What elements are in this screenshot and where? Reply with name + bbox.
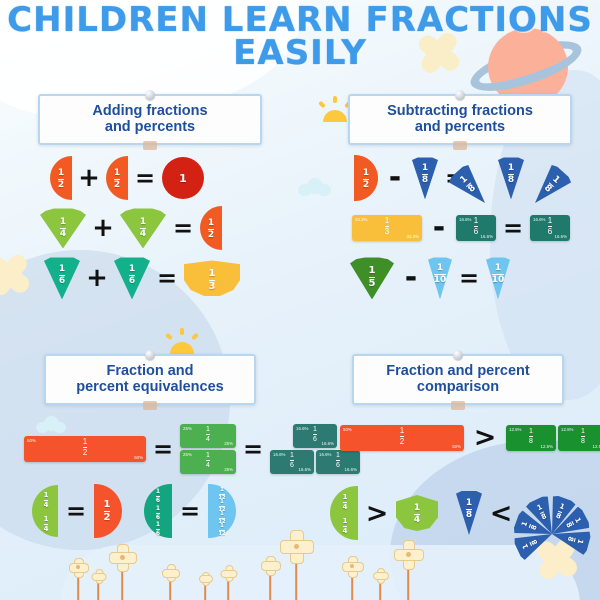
- fraction-tenth-subtrahend: 110: [428, 257, 452, 299]
- panel-comparison-title-line1: Fraction and percent: [358, 363, 558, 379]
- fraction-eighth-compare: 18: [456, 491, 482, 535]
- panel-subtracting-title-line1: Subtracting fractions: [354, 103, 566, 119]
- panel-subtracting: Subtracting fractions and percents 12 - …: [348, 94, 572, 303]
- fraction-tenth-result: 110: [486, 257, 510, 299]
- bar-eighth-pair: 12.5% 12.5% 18 12.5% 12.5% 18: [506, 425, 600, 451]
- poster-title: CHILDREN LEARN FRACTIONS EASILY: [0, 4, 600, 71]
- row-sub-2: 33.3% 33.3% 13 - 16.6% 16.6% 16 = 16.6% …: [348, 203, 572, 253]
- panel-subtracting-rows: 12 - 18 = 18 18: [348, 153, 572, 303]
- bar-quarter-stack: 25% 25% 14 25% 25% 14: [180, 424, 236, 474]
- row-cmp-2: 14 14 > 14 18 < 18 18 18 18 18: [330, 484, 600, 542]
- operator-plus: +: [90, 215, 116, 241]
- tape-icon: [143, 141, 157, 150]
- operator-minus: -: [426, 213, 452, 243]
- fraction-half-two-quarters: 14 14: [32, 485, 58, 537]
- fraction-eighth-fan-compare: 18 18 18 18 18 18: [520, 484, 600, 542]
- panel-subtracting-header: Subtracting fractions and percents: [348, 94, 572, 145]
- bar-half-compare: 50% 50% 12: [340, 425, 464, 451]
- pin-icon: [145, 350, 155, 360]
- wedge-2: 18: [498, 157, 524, 199]
- operator-minus: -: [398, 263, 424, 293]
- cloud-icon-left: [298, 178, 332, 198]
- panel-comparison-title-line2: comparison: [358, 379, 558, 395]
- bar-eighth-2: 12.5% 12.5% 18: [558, 425, 600, 451]
- pin-icon: [453, 350, 463, 360]
- row-eqv-2: 14 14 = 12 16 16 16 = 112 112 112 112: [32, 484, 236, 538]
- panel-adding-rows: 12 + 12 = 1 14: [38, 153, 262, 303]
- bar-quarter-2: 25% 25% 14: [180, 450, 236, 474]
- operator-equals: =: [132, 166, 158, 190]
- panel-adding: Adding fractions and percents 12 + 12 =: [38, 94, 262, 303]
- sun-icon-middle: [163, 328, 201, 354]
- comparator-greater-than: >: [364, 500, 390, 527]
- bar-half-equiv: 50% 50% 12: [24, 436, 146, 462]
- operator-minus: -: [382, 163, 408, 193]
- bar-third-minuend: 33.3% 33.3% 13: [352, 215, 422, 241]
- operator-equals: =: [177, 499, 203, 523]
- tape-icon: [451, 401, 465, 410]
- fraction-eighth-fan-result: 18 18 18: [472, 155, 550, 201]
- fraction-half-green-compare: 14 14: [330, 486, 358, 540]
- comparator-greater-than: >: [472, 424, 498, 451]
- panel-adding-title-line1: Adding fractions: [44, 103, 256, 119]
- operator-equals: =: [63, 499, 89, 523]
- fraction-quarter-1: 14: [40, 208, 86, 248]
- panel-equivalences-title-line2: percent equivalences: [50, 379, 250, 395]
- bar-quarter-1: 25% 25% 14: [180, 424, 236, 448]
- fraction-half-twelfths: 112 112 112 112: [208, 484, 236, 538]
- fraction-sixth-2: 16: [114, 257, 150, 299]
- row-add-3: 16 + 16 = 13: [38, 253, 262, 303]
- tape-icon: [143, 401, 157, 410]
- operator-equals: =: [150, 437, 176, 461]
- fraction-half-sixths: 16 16 16: [144, 484, 172, 538]
- bar-sixth-top: 16.6% 16.6% 16: [293, 424, 337, 448]
- comparator-less-than: <: [488, 500, 514, 527]
- fraction-half-result: 12: [200, 206, 222, 250]
- panel-equivalences-title-line1: Fraction and: [50, 363, 250, 379]
- row-cmp-1: 50% 50% 12 > 12.5% 12.5% 18 12.5% 12.5% …: [340, 424, 600, 451]
- panel-comparison: Fraction and percent comparison: [352, 354, 564, 405]
- operator-equals: =: [170, 216, 196, 240]
- tape-icon: [453, 141, 467, 150]
- bar-sixth-bottom-right: 16.6% 16.6% 16: [316, 450, 360, 474]
- operator-plus: +: [84, 265, 110, 291]
- panel-equivalences: Fraction and percent equivalences: [44, 354, 256, 405]
- panel-adding-title-line2: and percents: [44, 119, 256, 135]
- panel-subtracting-title-line2: and percents: [354, 119, 566, 135]
- fraction-whole-circle: 1: [162, 157, 204, 199]
- operator-equals: =: [500, 216, 526, 240]
- fraction-sixth-1: 16: [44, 257, 80, 299]
- flower-decoration-strip: [0, 540, 600, 600]
- bar-sixth-bottom-left: 16.6% 16.6% 16: [270, 450, 314, 474]
- fraction-quarter-2: 14: [120, 208, 166, 248]
- row-sub-1: 12 - 18 = 18 18: [348, 153, 572, 203]
- operator-equals: =: [456, 266, 482, 290]
- operator-equals: =: [154, 266, 180, 290]
- poster-canvas: CHILDREN LEARN FRACTIONS EASILY Adding f…: [0, 0, 600, 600]
- panel-equivalences-header: Fraction and percent equivalences: [44, 354, 256, 405]
- row-add-1: 12 + 12 = 1: [38, 153, 262, 203]
- pin-icon: [455, 90, 465, 100]
- fraction-half-2: 12: [106, 156, 128, 200]
- row-eqv-1: 50% 50% 12 = 25% 25% 14 25% 25% 14 = 16.…: [24, 424, 360, 474]
- title-line-2: EASILY: [0, 37, 600, 70]
- bar-sixth-result: 16.6% 16.6% 16: [530, 215, 570, 241]
- row-sub-3: 15 - 110 = 110: [348, 253, 572, 303]
- panel-adding-header: Adding fractions and percents: [38, 94, 262, 145]
- row-add-2: 14 + 14 = 12: [38, 203, 262, 253]
- fraction-fifth-minuend: 15: [350, 257, 394, 299]
- fraction-quarter-compare: 14: [396, 495, 438, 531]
- panel-comparison-header: Fraction and percent comparison: [352, 354, 564, 405]
- operator-plus: +: [76, 165, 102, 191]
- fraction-half-orange: 12: [94, 484, 122, 538]
- operator-equals: =: [240, 437, 266, 461]
- bar-eighth-1: 12.5% 12.5% 18: [506, 425, 556, 451]
- fraction-eighth-subtrahend: 18: [412, 157, 438, 199]
- bar-sixth-subtrahend: 16.6% 16.6% 16: [456, 215, 496, 241]
- fraction-half-minuend: 12: [354, 155, 378, 201]
- pin-icon: [145, 90, 155, 100]
- fraction-half-1: 12: [50, 156, 72, 200]
- fraction-third-result: 13: [184, 260, 240, 296]
